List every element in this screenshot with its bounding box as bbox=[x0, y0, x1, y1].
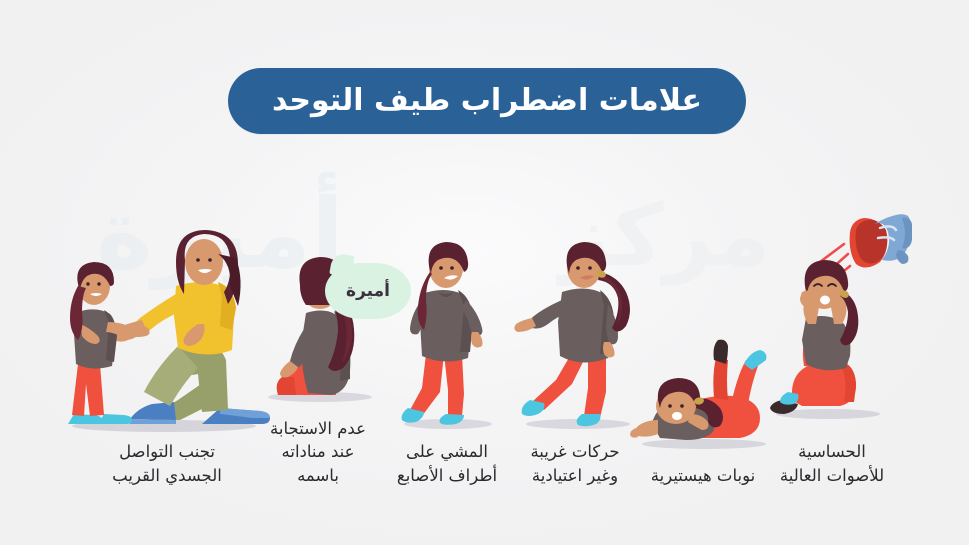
speech-bubble-name: أميرة bbox=[325, 263, 411, 319]
child-walking-tiptoes-svg bbox=[382, 224, 512, 434]
page-title: علامات اضطراب طيف التوحد bbox=[272, 86, 702, 116]
illustration-child-covering-ears bbox=[752, 206, 912, 436]
child-sound-sensitivity-svg bbox=[752, 206, 912, 436]
title-banner: علامات اضطراب طيف التوحد bbox=[228, 68, 746, 134]
sign-caption: عدم الاستجابة عند مناداته باسمه bbox=[248, 417, 388, 487]
sign-item-no-response-to-name: عدم الاستجابة عند مناداته باسمه bbox=[248, 201, 388, 487]
illustration-child-tiptoes bbox=[382, 224, 512, 434]
sign-caption: الحساسية للأصوات العالية bbox=[752, 440, 912, 487]
infographic-canvas: أميرة مركز علامات اضطراب طيف التوحد bbox=[0, 0, 969, 545]
sign-item-sound-sensitivity: الحساسية للأصوات العالية bbox=[752, 206, 912, 487]
megaphone-icon bbox=[850, 214, 912, 267]
sign-caption: المشي على أطراف الأصابع bbox=[382, 440, 512, 487]
